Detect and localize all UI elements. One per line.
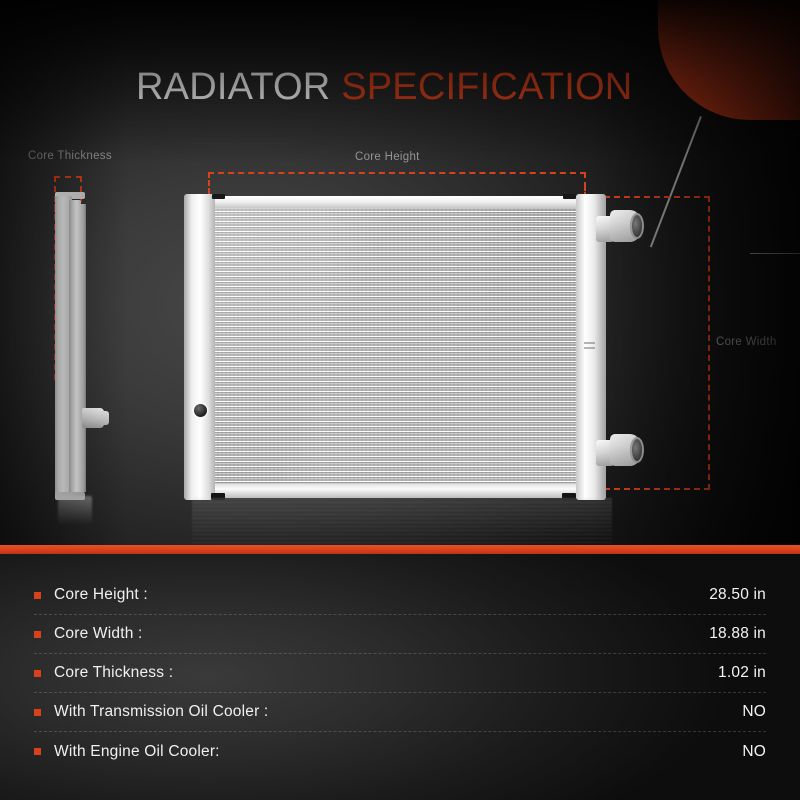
spec-row: With Engine Oil Cooler: NO <box>34 732 766 771</box>
bullet-square-icon <box>34 670 41 677</box>
radiator-left-tank <box>184 194 215 500</box>
spec-label: Core Height : <box>54 586 148 604</box>
spec-label: With Engine Oil Cooler: <box>54 743 220 761</box>
radiator-specification-page: RADIATOR SPECIFICATION Core Thickness Co… <box>0 0 800 800</box>
side-view-edge <box>79 204 86 492</box>
label-core-height: Core Height <box>355 151 420 163</box>
spec-label: Core Thickness : <box>54 664 173 682</box>
spec-row: With Transmission Oil Cooler : NO <box>34 693 766 732</box>
bullet-square-icon <box>34 592 41 599</box>
guide-core-width-right <box>708 196 710 490</box>
label-core-width: Core Width <box>716 336 777 348</box>
accent-blob-shape <box>658 0 800 120</box>
accent-horizontal-line <box>750 253 800 254</box>
spec-label: With Transmission Oil Cooler : <box>54 703 268 721</box>
radiator-core-fins <box>211 206 579 486</box>
spec-row: Core Thickness : 1.02 in <box>34 654 766 693</box>
label-core-thickness: Core Thickness <box>28 150 112 162</box>
guide-core-height-left <box>208 172 210 194</box>
radiator-tank-marking <box>584 347 595 349</box>
side-view-reflection <box>58 496 92 530</box>
radiator-top-rail <box>204 196 588 208</box>
spec-value: 28.50 in <box>709 586 766 604</box>
specification-table: Core Height : 28.50 in Core Width : 18.8… <box>0 554 800 800</box>
radiator-bottom-rail <box>204 484 588 498</box>
spec-value: 1.02 in <box>718 664 766 682</box>
accent-divider-bar <box>0 545 800 554</box>
radiator-top-bracket-right <box>563 194 576 199</box>
inlet-neck-opening <box>630 213 644 239</box>
radiator-top-bracket-left <box>212 194 225 199</box>
radiator-reflection <box>192 498 612 544</box>
guide-core-height-top <box>208 172 586 174</box>
radiator-front-view <box>180 196 612 496</box>
spec-label: Core Width : <box>54 625 143 643</box>
spec-value: NO <box>742 743 766 761</box>
bullet-square-icon <box>34 631 41 638</box>
spec-value: NO <box>742 703 766 721</box>
title-primary: RADIATOR <box>136 66 330 108</box>
radiator-mounting-hole <box>194 404 207 417</box>
radiator-tank-marking <box>584 342 595 344</box>
bullet-square-icon <box>34 748 41 755</box>
radiator-side-view <box>55 196 97 496</box>
accent-diagonal-line <box>650 116 702 247</box>
spec-row: Core Width : 18.88 in <box>34 615 766 654</box>
spec-value: 18.88 in <box>709 625 766 643</box>
outlet-neck-opening <box>630 437 644 463</box>
spec-row: Core Height : 28.50 in <box>34 576 766 615</box>
page-title: RADIATOR SPECIFICATION <box>136 66 632 109</box>
title-accent: SPECIFICATION <box>341 66 632 108</box>
side-view-port-tip <box>101 411 109 425</box>
bullet-square-icon <box>34 709 41 716</box>
guide-core-thickness-top <box>54 176 82 178</box>
hero-product-image: RADIATOR SPECIFICATION Core Thickness Co… <box>0 0 800 546</box>
